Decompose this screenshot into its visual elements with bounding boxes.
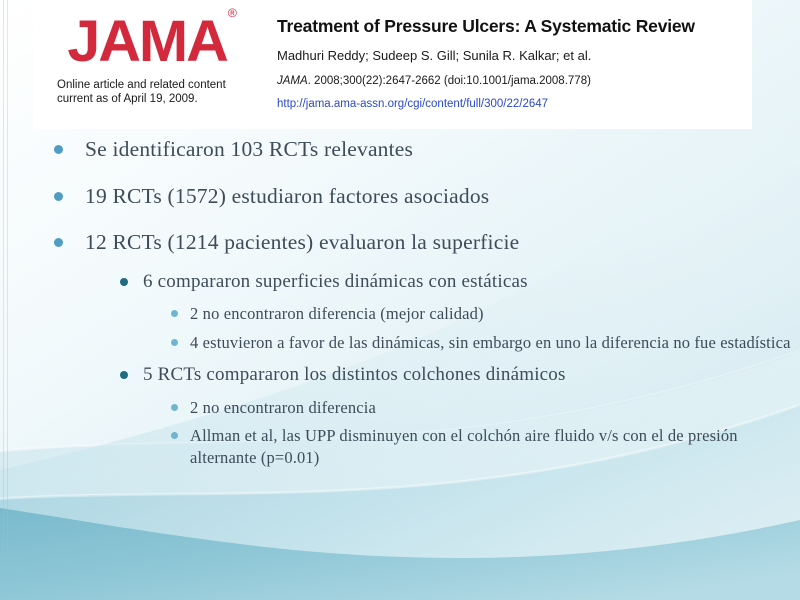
article-url-link[interactable]: http://jama.ama-assn.org/cgi/content/ful… (277, 98, 744, 112)
jama-article-header-image: JAMA® Online article and related content… (33, 0, 752, 129)
bullet-text: Allman et al, las UPP disminuyen con el … (190, 425, 800, 469)
bullet-item-l3: 4 estuvieron a favor de las dinámicas, s… (169, 332, 800, 354)
bullet-list-level-3: 2 no encontraron diferencia Allman et al… (143, 397, 800, 469)
bullet-text: 6 compararon superficies dinámicas con e… (143, 270, 800, 294)
bullet-item-l3: Allman et al, las UPP disminuyen con el … (169, 425, 800, 469)
bullet-item-l3: 2 no encontraron diferencia (mejor calid… (169, 303, 800, 325)
jama-logo-block: JAMA® Online article and related content… (33, 0, 259, 107)
citation-journal-name: JAMA (277, 75, 308, 87)
article-citation: JAMA. 2008;300(22):2647-2662 (doi:10.100… (277, 75, 744, 89)
bullet-item-l2: 6 compararon superficies dinámicas con e… (118, 270, 800, 354)
bullet-text: Se identificaron 103 RCTs relevantes (85, 136, 800, 164)
bullet-text: 4 estuvieron a favor de las dinámicas, s… (190, 332, 800, 354)
jama-article-block: Treatment of Pressure Ulcers: A Systemat… (259, 0, 752, 112)
bullet-list-level-2: 6 compararon superficies dinámicas con e… (85, 270, 800, 469)
bullet-item-l1: 19 RCTs (1572) estudiaron factores asoci… (52, 183, 800, 211)
registered-trademark-icon: ® (228, 6, 237, 20)
bullet-item-l3: 2 no encontraron diferencia (169, 397, 800, 419)
bullet-list-level-3: 2 no encontraron diferencia (mejor calid… (143, 303, 800, 354)
bullet-text: 12 RCTs (1214 pacientes) evaluaron la su… (85, 229, 800, 257)
article-authors: Madhuri Reddy; Sudeep S. Gill; Sunila R.… (277, 48, 744, 64)
bullet-item-l1: Se identificaron 103 RCTs relevantes (52, 136, 800, 164)
bullet-list-level-1: Se identificaron 103 RCTs relevantes 19 … (0, 136, 800, 469)
presentation-slide: JAMA® Online article and related content… (0, 0, 800, 600)
bullet-item-l1: 12 RCTs (1214 pacientes) evaluaron la su… (52, 229, 800, 469)
jama-wordmark-text: JAMA (68, 9, 227, 74)
bullet-text: 2 no encontraron diferencia (190, 397, 800, 419)
bullet-text: 2 no encontraron diferencia (mejor calid… (190, 303, 800, 325)
jama-currency-note: Online article and related contentcurren… (55, 78, 249, 107)
article-title: Treatment of Pressure Ulcers: A Systemat… (277, 16, 744, 37)
jama-wordmark-logo: JAMA® (68, 14, 236, 69)
bullet-item-l2: 5 RCTs compararon los distintos colchone… (118, 363, 800, 469)
bullet-text: 19 RCTs (1572) estudiaron factores asoci… (85, 183, 800, 211)
citation-details: . 2008;300(22):2647-2662 (doi:10.1001/ja… (308, 75, 591, 87)
slide-body-content: Se identificaron 103 RCTs relevantes 19 … (0, 136, 800, 488)
bullet-text: 5 RCTs compararon los distintos colchone… (143, 363, 800, 387)
